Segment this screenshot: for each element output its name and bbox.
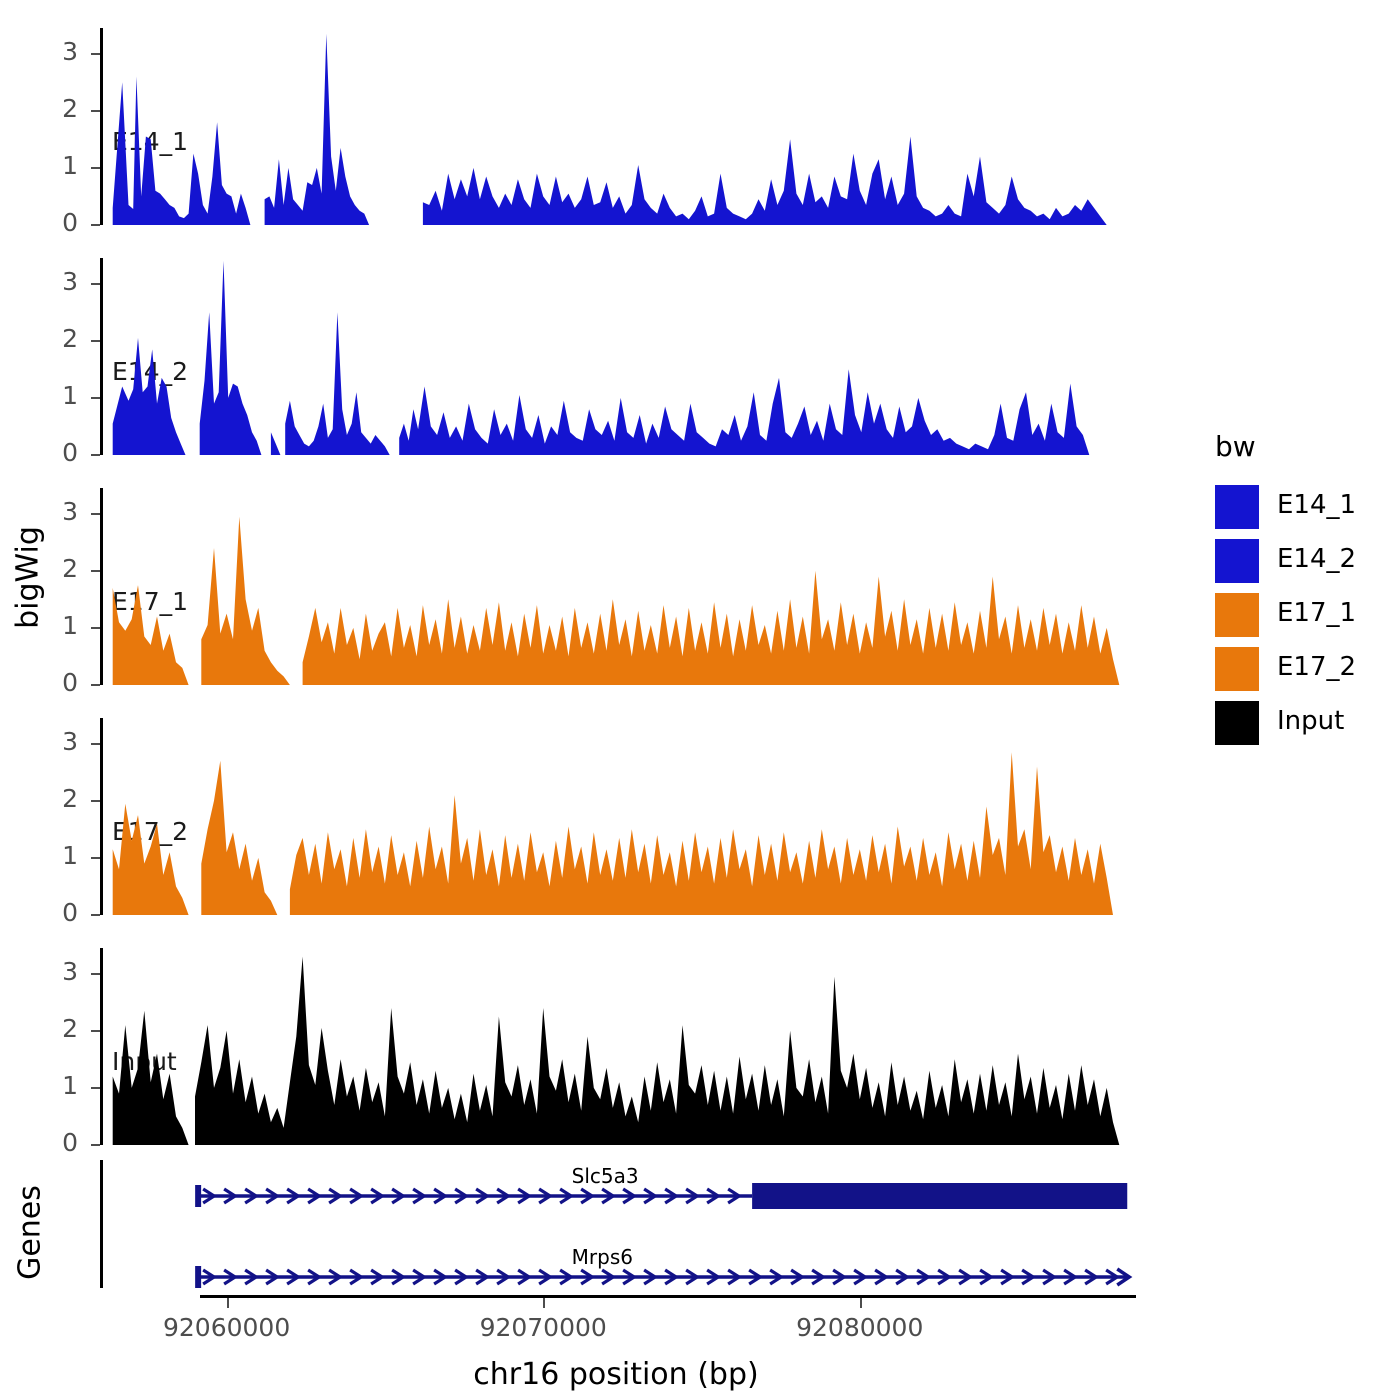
strand-arrow-icon bbox=[644, 1189, 655, 1203]
strand-arrow-icon bbox=[245, 1270, 256, 1284]
legend-item-label: Input bbox=[1277, 706, 1344, 736]
strand-arrow-icon bbox=[812, 1270, 823, 1284]
coverage-area-input bbox=[0, 948, 1400, 1145]
strand-arrow-icon bbox=[560, 1270, 571, 1284]
strand-arrow-icon bbox=[791, 1270, 802, 1284]
strand-arrow-icon bbox=[455, 1189, 466, 1203]
strand-arrow-icon bbox=[581, 1189, 592, 1203]
exon-block bbox=[752, 1183, 1127, 1209]
strand-arrow-icon bbox=[623, 1270, 634, 1284]
strand-arrow-icon bbox=[245, 1189, 256, 1203]
legend-item-label: E17_1 bbox=[1277, 598, 1356, 628]
strand-arrow-icon bbox=[896, 1270, 907, 1284]
strand-arrow-icon bbox=[686, 1270, 697, 1284]
legend-item-e14_1[interactable]: E14_1 bbox=[1215, 484, 1395, 530]
strand-arrow-icon bbox=[707, 1270, 718, 1284]
strand-arrow-icon bbox=[539, 1189, 550, 1203]
strand-arrow-icon bbox=[350, 1270, 361, 1284]
legend-item-label: E17_2 bbox=[1277, 652, 1356, 682]
gene-track-slc5a3[interactable] bbox=[198, 1183, 1127, 1209]
legend-color-swatch bbox=[1215, 701, 1259, 745]
strand-arrow-icon bbox=[749, 1270, 760, 1284]
strand-arrow-icon bbox=[938, 1270, 949, 1284]
strand-arrow-icon bbox=[686, 1189, 697, 1203]
strand-arrow-icon bbox=[560, 1189, 571, 1203]
x-axis-label: chr16 position (bp) bbox=[100, 1357, 1132, 1392]
strand-arrow-icon bbox=[644, 1270, 655, 1284]
strand-arrow-icon bbox=[518, 1189, 529, 1203]
legend-color-swatch bbox=[1215, 485, 1259, 529]
strand-arrow-icon bbox=[476, 1189, 487, 1203]
genes-axis-label: Genes bbox=[13, 1158, 48, 1308]
strand-arrow-icon bbox=[413, 1189, 424, 1203]
strand-arrow-icon bbox=[665, 1270, 676, 1284]
strand-arrow-icon bbox=[266, 1189, 277, 1203]
strand-arrow-icon bbox=[602, 1189, 613, 1203]
strand-arrow-icon bbox=[539, 1270, 550, 1284]
x-axis-line bbox=[200, 1295, 1136, 1298]
strand-arrow-icon bbox=[728, 1270, 739, 1284]
legend-color-swatch bbox=[1215, 647, 1259, 691]
strand-arrow-icon bbox=[833, 1270, 844, 1284]
strand-arrow-icon bbox=[1106, 1270, 1117, 1284]
strand-arrow-icon bbox=[854, 1270, 865, 1284]
strand-arrow-icon bbox=[350, 1189, 361, 1203]
strand-arrow-icon bbox=[413, 1270, 424, 1284]
x-tick-label: 92080000 bbox=[750, 1313, 970, 1342]
strand-arrow-icon bbox=[392, 1189, 403, 1203]
x-tick bbox=[543, 1298, 545, 1308]
genes-axis-line bbox=[100, 1160, 103, 1288]
legend-item-label: E14_2 bbox=[1277, 544, 1356, 574]
strand-arrow-icon bbox=[287, 1189, 298, 1203]
strand-arrow-icon bbox=[1117, 1269, 1129, 1285]
strand-arrow-icon bbox=[959, 1270, 970, 1284]
x-tick-label: 92070000 bbox=[433, 1313, 653, 1342]
strand-arrow-icon bbox=[917, 1270, 928, 1284]
strand-arrow-icon bbox=[308, 1189, 319, 1203]
strand-arrow-icon bbox=[476, 1270, 487, 1284]
x-tick bbox=[860, 1298, 862, 1308]
coverage-area-e14_2 bbox=[0, 258, 1400, 455]
strand-arrow-icon bbox=[1085, 1270, 1096, 1284]
strand-arrow-icon bbox=[1001, 1270, 1012, 1284]
strand-arrow-icon bbox=[1043, 1270, 1054, 1284]
legend-color-swatch bbox=[1215, 593, 1259, 637]
legend-item-e14_2[interactable]: E14_2 bbox=[1215, 538, 1395, 584]
strand-arrow-icon bbox=[371, 1189, 382, 1203]
gene-label-slc5a3: Slc5a3 bbox=[572, 1164, 639, 1188]
strand-arrow-icon bbox=[497, 1270, 508, 1284]
legend-item-input[interactable]: Input bbox=[1215, 700, 1395, 746]
strand-arrow-icon bbox=[224, 1189, 235, 1203]
legend-title: bw bbox=[1215, 430, 1256, 463]
genes-panel: Slc5a3Mrps6 bbox=[0, 0, 1400, 200]
strand-arrow-icon bbox=[602, 1270, 613, 1284]
strand-arrow-icon bbox=[266, 1270, 277, 1284]
legend: bw E14_1E14_2E17_1E17_2Input bbox=[1215, 430, 1395, 730]
strand-arrow-icon bbox=[1022, 1270, 1033, 1284]
gene-track-mrps6[interactable] bbox=[198, 1266, 1129, 1288]
strand-arrow-icon bbox=[623, 1189, 634, 1203]
strand-arrow-icon bbox=[392, 1270, 403, 1284]
strand-arrow-icon bbox=[770, 1270, 781, 1284]
strand-arrow-icon bbox=[203, 1270, 214, 1284]
strand-arrow-icon bbox=[581, 1270, 592, 1284]
coverage-area-e17_2 bbox=[0, 718, 1400, 915]
coverage-area-e17_1 bbox=[0, 488, 1400, 685]
legend-item-label: E14_1 bbox=[1277, 490, 1356, 520]
legend-item-e17_1[interactable]: E17_1 bbox=[1215, 592, 1395, 638]
strand-arrow-icon bbox=[518, 1270, 529, 1284]
x-tick bbox=[227, 1298, 229, 1308]
strand-arrow-icon bbox=[980, 1270, 991, 1284]
strand-arrow-icon bbox=[434, 1189, 445, 1203]
strand-arrow-icon bbox=[455, 1270, 466, 1284]
strand-arrow-icon bbox=[308, 1270, 319, 1284]
strand-arrow-icon bbox=[665, 1189, 676, 1203]
strand-arrow-icon bbox=[329, 1270, 340, 1284]
strand-arrow-icon bbox=[434, 1270, 445, 1284]
legend-color-swatch bbox=[1215, 539, 1259, 583]
strand-arrow-icon bbox=[224, 1270, 235, 1284]
x-tick-label: 92060000 bbox=[117, 1313, 337, 1342]
strand-arrow-icon bbox=[371, 1270, 382, 1284]
strand-arrow-icon bbox=[329, 1189, 340, 1203]
strand-arrow-icon bbox=[287, 1270, 298, 1284]
strand-arrow-icon bbox=[203, 1189, 214, 1203]
strand-arrow-icon bbox=[728, 1189, 739, 1203]
strand-arrow-icon bbox=[707, 1189, 718, 1203]
strand-arrow-icon bbox=[875, 1270, 886, 1284]
strand-arrow-icon bbox=[1064, 1270, 1075, 1284]
gene-label-mrps6: Mrps6 bbox=[572, 1245, 633, 1269]
legend-item-e17_2[interactable]: E17_2 bbox=[1215, 646, 1395, 692]
strand-arrow-icon bbox=[497, 1189, 508, 1203]
